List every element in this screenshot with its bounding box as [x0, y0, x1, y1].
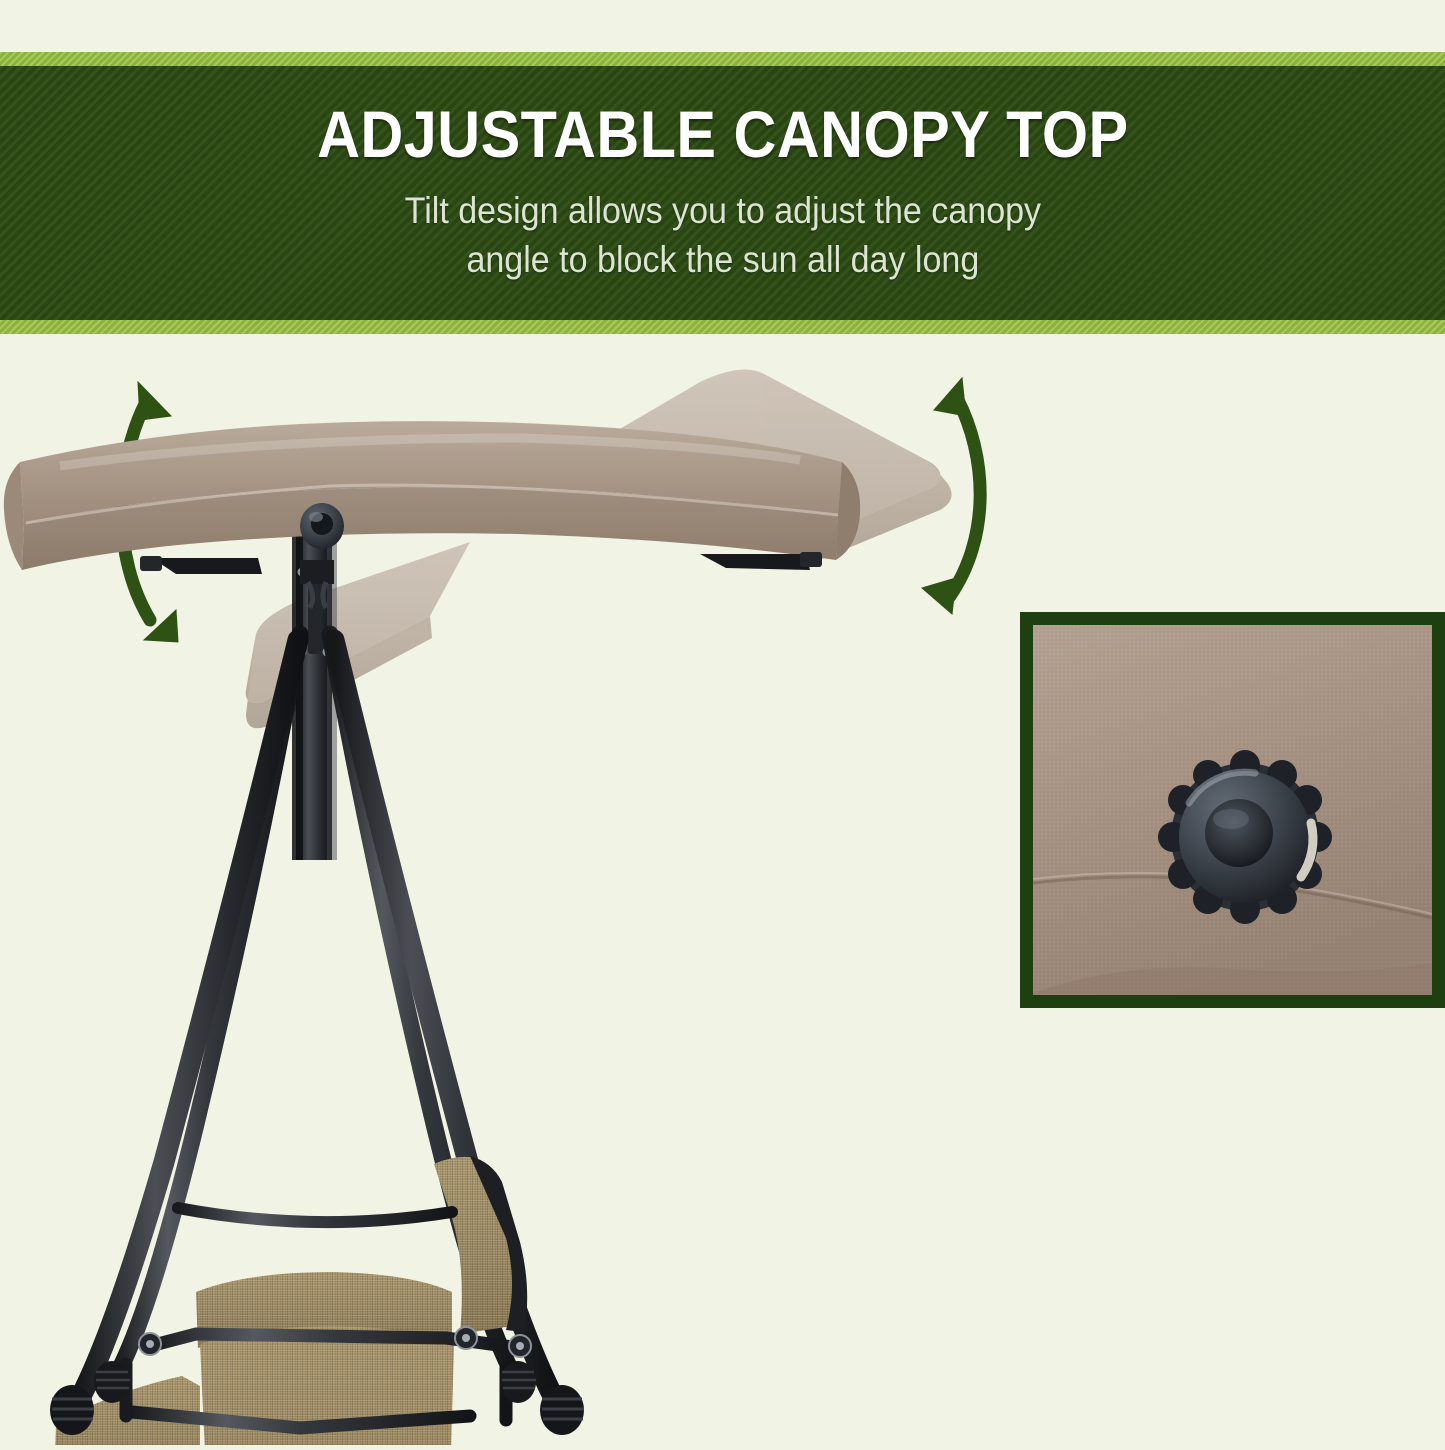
banner-top-stripe	[0, 52, 1445, 66]
canopy-tilt-knob-icon	[300, 503, 344, 549]
page-subtitle-line-1: Tilt design allows you to adjust the can…	[404, 187, 1040, 236]
infographic-canvas: ADJUSTABLE CANOPY TOP Tilt design allows…	[0, 0, 1445, 1445]
page-title: ADJUSTABLE CANOPY TOP	[317, 101, 1128, 167]
detail-inset-panel	[1020, 612, 1445, 1008]
product-photo-swing-chair	[0, 334, 1010, 1445]
banner-bottom-stripe	[0, 320, 1445, 334]
swing-upper-crossbrace	[178, 1208, 452, 1222]
banner-body: ADJUSTABLE CANOPY TOP Tilt design allows…	[0, 66, 1445, 320]
page-subtitle-line-2: angle to block the sun all day long	[404, 236, 1040, 285]
page-subtitle: Tilt design allows you to adjust the can…	[404, 187, 1040, 285]
header-banner: ADJUSTABLE CANOPY TOP Tilt design allows…	[0, 52, 1445, 334]
detail-inset-border	[1020, 612, 1445, 1008]
